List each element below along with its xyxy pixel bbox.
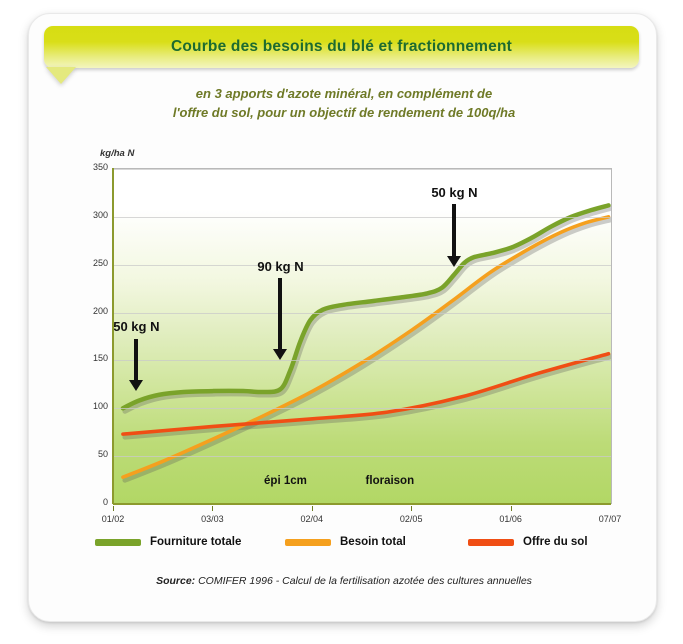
y-tick-label: 200 [78,306,108,316]
x-tick-label: 01/06 [499,514,522,524]
arrow-shaft [278,278,282,350]
arrow-head [129,380,143,391]
y-axis-ticks: 050100150200250300350 [76,168,108,503]
x-tick-mark [411,506,412,511]
x-axis-ticks: 01/0203/0302/0402/0501/0607/07 [113,506,610,528]
y-tick-label: 250 [78,258,108,268]
x-tick-mark [312,506,313,511]
series-line [123,217,609,477]
y-tick-label: 150 [78,353,108,363]
title-banner: Courbe des besoins du blé et fractionnem… [44,26,639,68]
subtitle-line-1: en 3 apports d'azote minéral, en complém… [64,84,624,103]
gridline [114,456,611,457]
y-axis-line [112,168,114,504]
gridline [114,169,611,170]
legend-swatch [95,539,141,546]
dose-annotation-label: 90 kg N [257,259,303,274]
x-tick-mark [113,506,114,511]
banner-pointer-tab [46,67,76,84]
gridline [114,360,611,361]
subtitle-line-2: l'offre du sol, pour un objectif de rend… [64,103,624,122]
x-axis-line [113,503,611,505]
dose-annotation-label: 50 kg N [431,185,477,200]
arrow-head [273,349,287,360]
gridline [114,217,611,218]
x-tick-mark [511,506,512,511]
arrow-head [447,256,461,267]
dose-annotation-label: 50 kg N [113,319,159,334]
series-curves [114,169,611,504]
growth-stage-label: épi 1cm [264,475,307,487]
chart-legend: Fourniture totaleBesoin totalOffre du so… [95,536,615,556]
legend-swatch [285,539,331,546]
series-shadow [125,208,611,411]
x-tick-label: 02/05 [400,514,423,524]
x-tick-mark [212,506,213,511]
arrow-shaft [134,339,138,381]
y-axis-unit-label: kg/ha N [100,148,134,159]
dose-annotation-arrow [273,278,287,360]
y-tick-label: 0 [78,497,108,507]
legend-label: Besoin total [340,536,406,548]
y-tick-label: 50 [78,449,108,459]
x-tick-label: 07/07 [599,514,622,524]
page-title: Courbe des besoins du blé et fractionnem… [44,26,639,68]
source-prefix: Source: [156,575,195,587]
gridline [114,265,611,266]
legend-swatch [468,539,514,546]
legend-item[interactable]: Offre du sol [468,536,588,548]
series-shadow [125,220,611,480]
gridline [114,313,611,314]
chart-plot-area: 50 kg N90 kg N50 kg Népi 1cmfloraison [113,168,612,504]
x-tick-label: 03/03 [201,514,224,524]
x-tick-label: 02/04 [301,514,324,524]
chart-subtitle: en 3 apports d'azote minéral, en complém… [64,84,624,122]
y-tick-label: 100 [78,401,108,411]
legend-label: Fourniture totale [150,536,241,548]
source-text: COMIFER 1996 - Calcul de la fertilisatio… [195,575,532,587]
x-tick-label: 01/02 [102,514,125,524]
legend-item[interactable]: Besoin total [285,536,406,548]
y-tick-label: 300 [78,210,108,220]
arrow-shaft [452,204,456,256]
gridline [114,408,611,409]
dose-annotation-arrow [447,204,461,266]
dose-annotation-arrow [129,339,143,391]
legend-label: Offre du sol [523,536,588,548]
legend-item[interactable]: Fourniture totale [95,536,241,548]
infographic-page: Courbe des besoins du blé et fractionnem… [0,0,683,644]
source-note: Source: COMIFER 1996 - Calcul de la fert… [64,575,624,587]
growth-stage-label: floraison [366,475,415,487]
y-tick-label: 350 [78,162,108,172]
